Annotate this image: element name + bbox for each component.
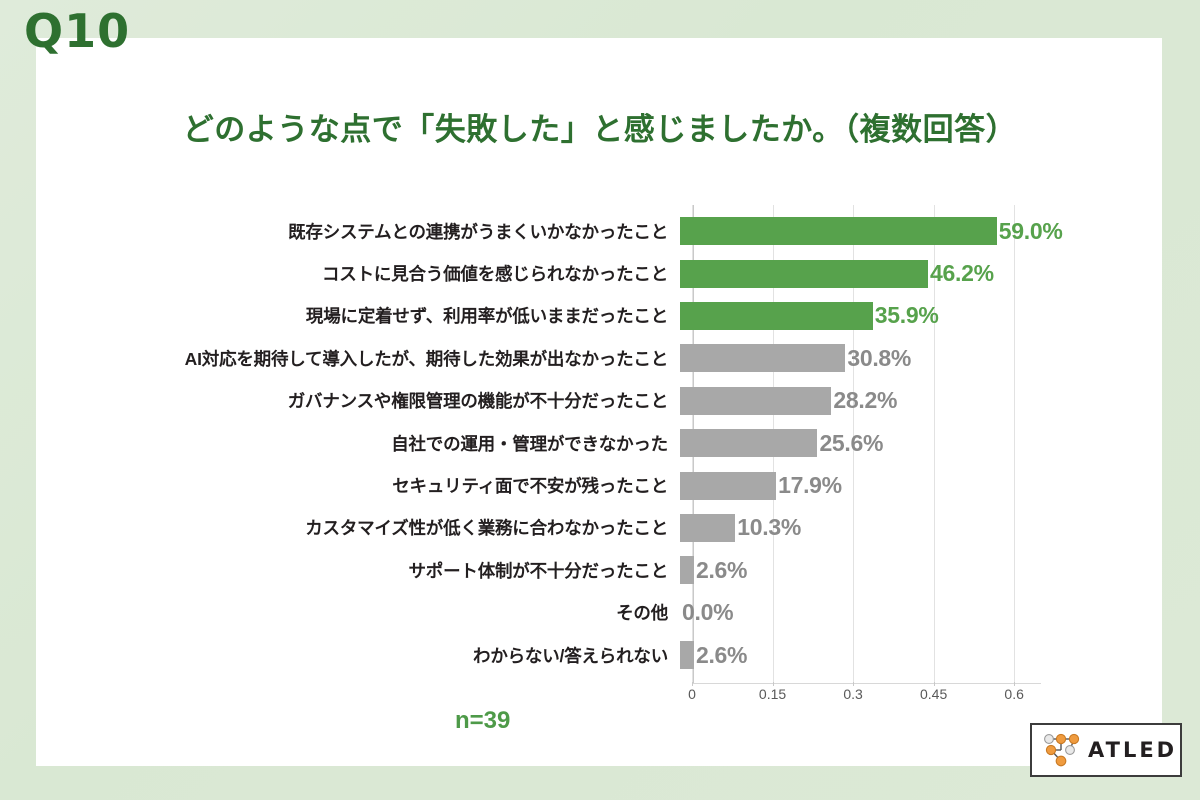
bar-value-label: 35.9% bbox=[875, 302, 939, 329]
bar-area: 0.0% bbox=[680, 592, 1100, 634]
bar-row: セキュリティ面で不安が残ったこと17.9% bbox=[80, 464, 1120, 506]
bar-value-label: 2.6% bbox=[696, 557, 747, 584]
bar-rows: 既存システムとの連携がうまくいかなかったこと59.0%コストに見合う価値を感じら… bbox=[80, 210, 1120, 676]
bar-category-label: 既存システムとの連携がうまくいかなかったこと bbox=[80, 219, 680, 244]
bar-value-label: 2.6% bbox=[696, 642, 747, 669]
bar-category-label: ガバナンスや権限管理の機能が不十分だったこと bbox=[80, 388, 680, 413]
bar-value-label: 25.6% bbox=[819, 430, 883, 457]
bar-area: 59.0% bbox=[680, 210, 1100, 252]
bar-row: カスタマイズ性が低く業務に合わなかったこと10.3% bbox=[80, 507, 1120, 549]
bar-value-label: 59.0% bbox=[999, 218, 1063, 245]
bar bbox=[680, 514, 735, 542]
bar-area: 17.9% bbox=[680, 464, 1100, 506]
bar bbox=[680, 217, 997, 245]
bar-category-label: 現場に定着せず、利用率が低いままだったこと bbox=[80, 303, 680, 328]
bar-value-label: 30.8% bbox=[847, 345, 911, 372]
bar-value-label: 10.3% bbox=[737, 514, 801, 541]
bar-category-label: カスタマイズ性が低く業務に合わなかったこと bbox=[80, 515, 680, 540]
bar-row: コストに見合う価値を感じられなかったこと46.2% bbox=[80, 252, 1120, 294]
bar-area: 2.6% bbox=[680, 634, 1100, 676]
bar-row: わからない/答えられない2.6% bbox=[80, 634, 1120, 676]
bar bbox=[680, 429, 817, 457]
bar bbox=[680, 472, 776, 500]
bar-row: 既存システムとの連携がうまくいかなかったこと59.0% bbox=[80, 210, 1120, 252]
bar-area: 46.2% bbox=[680, 252, 1100, 294]
bar-area: 35.9% bbox=[680, 295, 1100, 337]
bar-area: 2.6% bbox=[680, 549, 1100, 591]
bar bbox=[680, 556, 694, 584]
bar-area: 30.8% bbox=[680, 337, 1100, 379]
bar-category-label: コストに見合う価値を感じられなかったこと bbox=[80, 261, 680, 286]
bar-row: 自社での運用・管理ができなかった25.6% bbox=[80, 422, 1120, 464]
bar-chart-plot: 既存システムとの連携がうまくいかなかったこと59.0%コストに見合う価値を感じら… bbox=[0, 205, 1200, 695]
bar-row: AI対応を期待して導入したが、期待した効果が出なかったこと30.8% bbox=[80, 337, 1120, 379]
bar-value-label: 0.0% bbox=[682, 599, 733, 626]
bar bbox=[680, 641, 694, 669]
bar-row: サポート体制が不十分だったこと2.6% bbox=[80, 549, 1120, 591]
bar bbox=[680, 387, 831, 415]
bar-row: ガバナンスや権限管理の機能が不十分だったこと28.2% bbox=[80, 380, 1120, 422]
bar-area: 28.2% bbox=[680, 380, 1100, 422]
bar-row: その他0.0% bbox=[80, 592, 1120, 634]
bar bbox=[680, 260, 928, 288]
chart-title: どのような点で「失敗した」と感じましたか。（複数回答） bbox=[0, 104, 1200, 149]
bar bbox=[680, 302, 873, 330]
bar-area: 10.3% bbox=[680, 507, 1100, 549]
question-number: Q10 bbox=[24, 8, 130, 54]
bar-category-label: その他 bbox=[80, 600, 680, 625]
bar-category-label: セキュリティ面で不安が残ったこと bbox=[80, 473, 680, 498]
atled-logo: ATLED bbox=[1030, 723, 1182, 777]
bar-category-label: 自社での運用・管理ができなかった bbox=[80, 431, 680, 456]
bar-value-label: 28.2% bbox=[833, 387, 897, 414]
sample-size-label: n=39 bbox=[455, 707, 510, 735]
bar-row: 現場に定着せず、利用率が低いままだったこと35.9% bbox=[80, 295, 1120, 337]
bar-area: 25.6% bbox=[680, 422, 1100, 464]
bar-category-label: サポート体制が不十分だったこと bbox=[80, 558, 680, 583]
bar-value-label: 17.9% bbox=[778, 472, 842, 499]
atled-logo-text: ATLED bbox=[1088, 738, 1177, 762]
atled-node-network-icon bbox=[1040, 730, 1084, 770]
bar-category-label: AI対応を期待して導入したが、期待した効果が出なかったこと bbox=[80, 346, 680, 371]
bar-value-label: 46.2% bbox=[930, 260, 994, 287]
bar bbox=[680, 344, 845, 372]
bar-category-label: わからない/答えられない bbox=[80, 643, 680, 668]
